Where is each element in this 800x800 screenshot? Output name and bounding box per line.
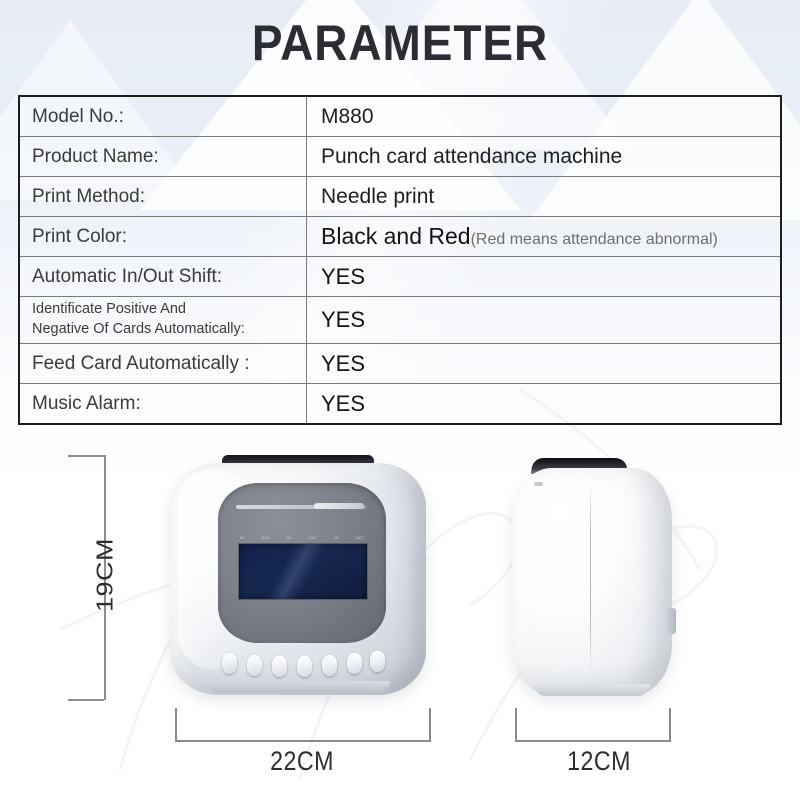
spec-label-line-1: Identificate Positive And — [32, 300, 306, 320]
spec-value-text: YES — [321, 307, 365, 332]
spec-label: Model No.: — [19, 96, 307, 137]
height-dimension-label: 19CM — [92, 538, 119, 612]
device-button-5[interactable] — [322, 655, 337, 676]
device-base — [206, 681, 390, 693]
spec-label-multiline: Identificate Positive And Negative Of Ca… — [19, 297, 307, 344]
spec-value-text: YES — [321, 264, 365, 289]
spec-label-line-2: Negative Of Cards Automatically: — [32, 320, 306, 340]
spec-value: YES — [307, 384, 782, 425]
device-button-7[interactable] — [370, 651, 385, 672]
height-dimension-tick-bottom — [68, 699, 104, 701]
spec-label: Feed Card Automatically : — [19, 344, 307, 384]
table-row: Print Color: Black and Red(Red means att… — [19, 217, 781, 257]
device-button-3[interactable] — [272, 656, 287, 677]
lcd-indicator: OUT — [261, 537, 269, 541]
table-row: Feed Card Automatically : YES — [19, 344, 781, 384]
spec-label: Music Alarm: — [19, 384, 307, 425]
lcd-indicator: IN — [287, 537, 291, 541]
print-color-value: Black and Red — [321, 223, 471, 249]
front-view-device: IN OUT IN OUT IN OUT — [170, 455, 426, 700]
product-figures: 19CM IN OUT IN OUT IN OUT — [0, 430, 800, 800]
device-button-4[interactable] — [297, 656, 312, 677]
product-parameter-page: PARAMETER Model No.: M880 Product Name: … — [0, 0, 800, 800]
spec-value: YES — [307, 297, 782, 344]
width-dimension-line-front — [175, 740, 431, 742]
side-device-housing — [512, 468, 672, 696]
table-row: Automatic In/Out Shift: YES — [19, 257, 781, 297]
spec-label: Automatic In/Out Shift: — [19, 257, 307, 297]
spec-value: Punch card attendance machine — [307, 137, 782, 177]
spec-label: Print Color: — [19, 217, 307, 257]
device-button-1[interactable] — [222, 653, 237, 674]
lcd-indicator: IN — [334, 537, 338, 541]
side-seam-line — [590, 482, 591, 674]
lcd-indicator: IN — [240, 537, 244, 541]
side-device-base — [534, 684, 650, 696]
spec-value: Needle print — [307, 177, 782, 217]
device-face-panel: IN OUT IN OUT IN OUT — [218, 483, 386, 643]
device-button-2[interactable] — [247, 655, 262, 676]
lcd-screen — [238, 543, 368, 600]
table-row: Music Alarm: YES — [19, 384, 781, 425]
spec-value-text: YES — [321, 391, 365, 416]
spec-label: Product Name: — [19, 137, 307, 177]
lcd-indicator: OUT — [356, 537, 364, 541]
width-dimension-line-side — [515, 740, 671, 742]
spec-value: M880 — [307, 96, 782, 137]
width-dimension-label-side: 12CM — [567, 746, 631, 777]
print-color-note: (Red means attendance abnormal) — [471, 231, 718, 248]
side-vent-mark — [534, 482, 543, 486]
specification-table: Model No.: M880 Product Name: Punch card… — [18, 95, 782, 425]
side-view-device — [512, 458, 672, 698]
table-row: Print Method: Needle print — [19, 177, 781, 217]
height-dimension-tick-top — [68, 455, 104, 457]
spec-value-print-color: Black and Red(Red means attendance abnor… — [307, 217, 782, 257]
width-dimension-tick-right-side — [669, 708, 671, 740]
page-title: PARAMETER — [32, 14, 768, 72]
width-dimension-tick-left-side — [515, 708, 517, 740]
lcd-indicator: OUT — [309, 537, 317, 541]
table-row: Product Name: Punch card attendance mach… — [19, 137, 781, 177]
spec-value-text: YES — [321, 351, 365, 376]
face-trim-highlight — [314, 503, 364, 509]
control-button-row — [222, 651, 382, 677]
width-dimension-tick-right-front — [429, 708, 431, 740]
table-row: Model No.: M880 — [19, 96, 781, 137]
width-dimension-tick-left-front — [175, 708, 177, 740]
side-connector-nub — [664, 608, 676, 634]
spec-value: YES — [307, 257, 782, 297]
lcd-indicator-labels: IN OUT IN OUT IN OUT — [240, 530, 364, 541]
spec-value: YES — [307, 344, 782, 384]
spec-label: Print Method: — [19, 177, 307, 217]
width-dimension-label-front: 22CM — [270, 746, 334, 777]
table-row: Identificate Positive And Negative Of Ca… — [19, 297, 781, 344]
device-button-6[interactable] — [347, 653, 362, 674]
